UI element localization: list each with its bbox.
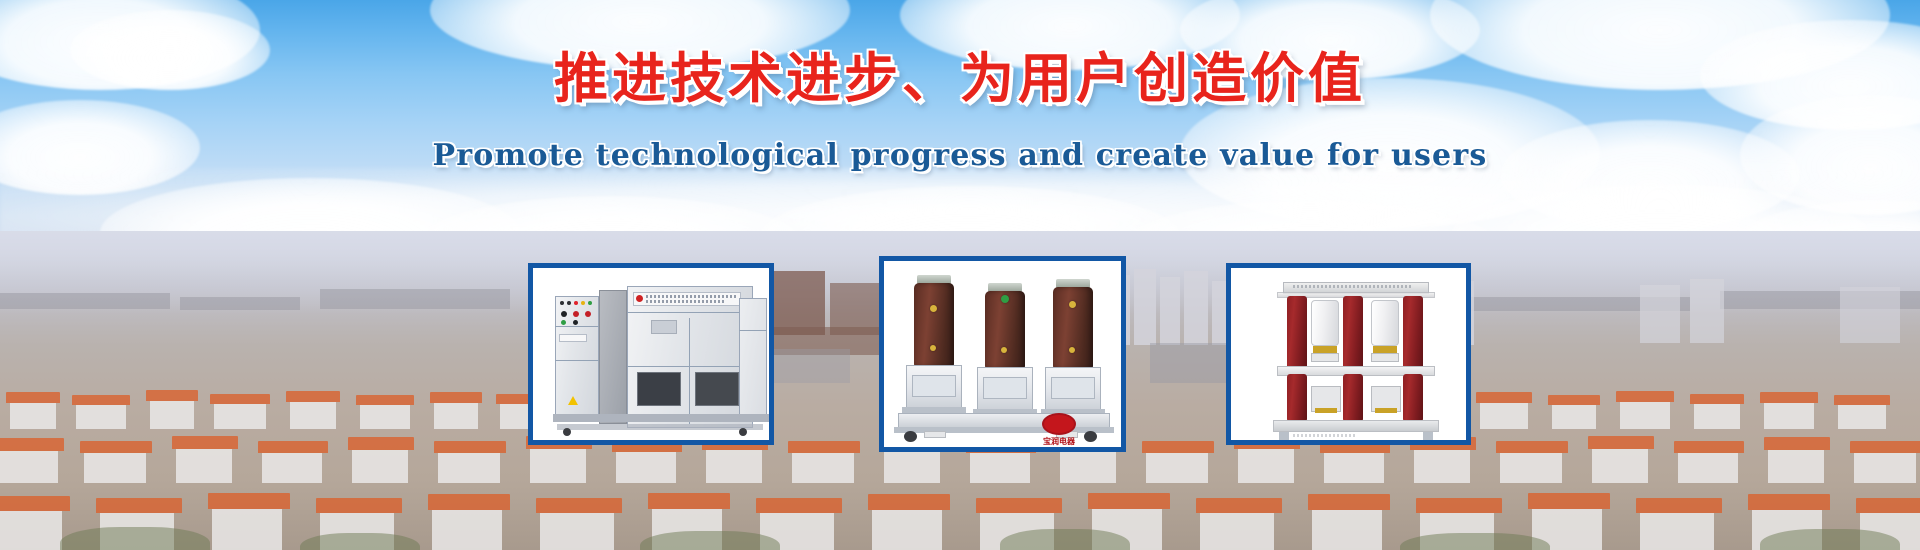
product-card-resistor-capacitor-bank[interactable] [1226, 263, 1471, 445]
page-subtitle: Promote technological progress and creat… [0, 141, 1920, 171]
brand-logo-icon [1042, 413, 1076, 435]
hero-banner: 推进技术进步、为用户创造价值 Promote technological pro… [0, 0, 1920, 550]
product-card-switchgear-cabinet[interactable] [528, 263, 774, 445]
product-card-vacuum-contactor[interactable]: 宝润电器 BAORUN ELECTRIC [879, 256, 1126, 452]
brand-logo-subtext: BAORUN ELECTRIC [1024, 447, 1094, 452]
brand-logo-text: 宝润电器 [1030, 437, 1088, 446]
product-image-vacuum-contactor: 宝润电器 BAORUN ELECTRIC [884, 261, 1121, 447]
product-image-resistor-capacitor-bank [1231, 268, 1466, 440]
page-title: 推进技术进步、为用户创造价值 [0, 52, 1920, 106]
product-image-switchgear-cabinet [533, 268, 769, 440]
